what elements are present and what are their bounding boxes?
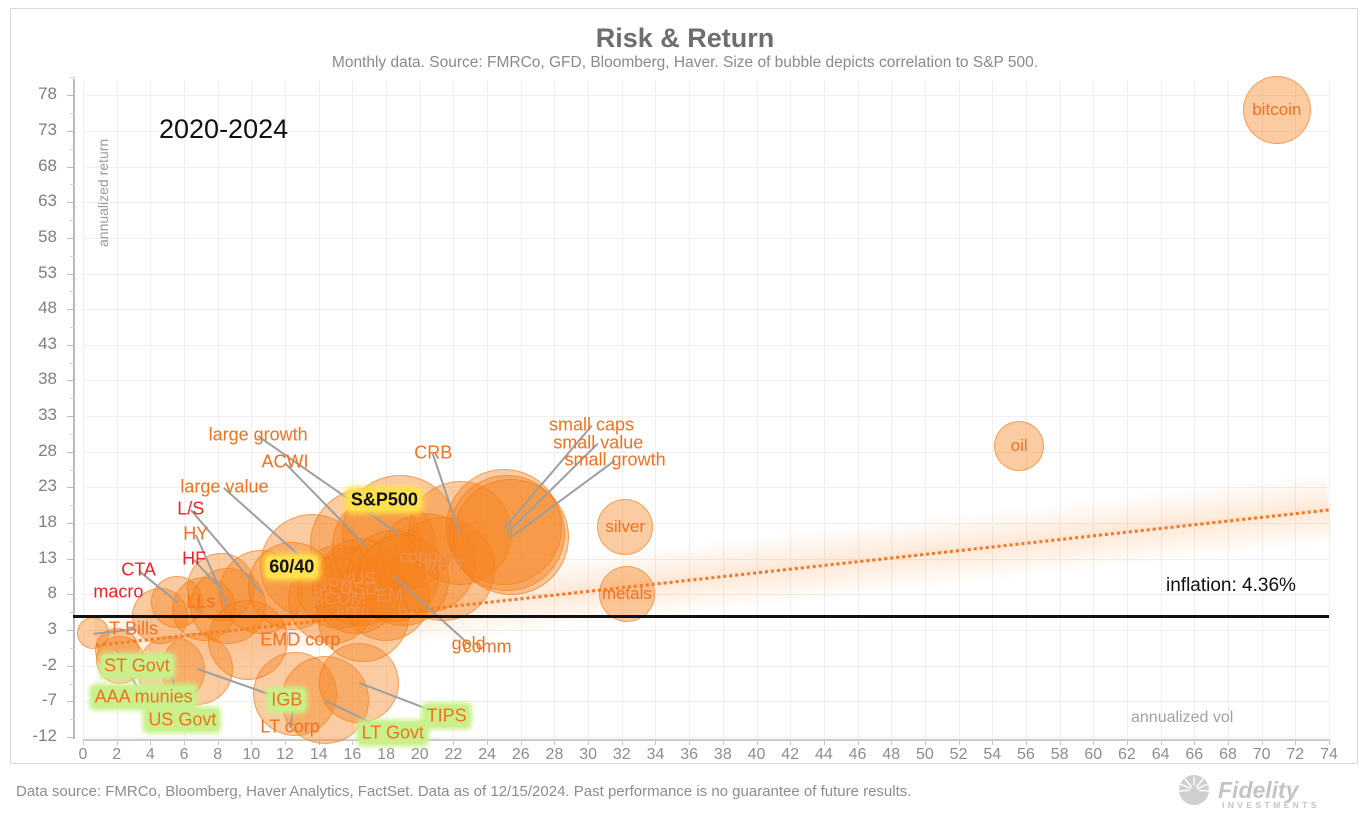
y-tick-label: 53 bbox=[11, 263, 57, 283]
chart-page: Risk & Return Monthly data. Source: FMRC… bbox=[0, 0, 1372, 817]
y-tick bbox=[67, 202, 75, 203]
y-tick-label: 3 bbox=[11, 619, 57, 639]
point-label-oil: oil bbox=[1011, 436, 1028, 456]
x-tick bbox=[117, 739, 118, 745]
point-label-st-govt: ST Govt bbox=[102, 655, 172, 676]
grid-line-horizontal bbox=[83, 238, 1329, 239]
grid-line-vertical bbox=[992, 81, 993, 737]
y-tick-label: 68 bbox=[11, 156, 57, 176]
y-tick-label: 48 bbox=[11, 298, 57, 318]
grid-line-horizontal bbox=[83, 309, 1329, 310]
x-tick bbox=[992, 739, 993, 745]
y-tick-label: 33 bbox=[11, 405, 57, 425]
point-label-reit: REIT bbox=[424, 557, 465, 578]
y-tick-minor bbox=[70, 149, 75, 150]
x-tick bbox=[891, 739, 892, 745]
y-tick-label: -12 bbox=[11, 726, 57, 746]
y-tick bbox=[67, 380, 75, 381]
grid-line-vertical bbox=[1060, 81, 1061, 737]
grid-line-vertical bbox=[1228, 81, 1229, 737]
point-label-large-value: large value bbox=[180, 477, 268, 498]
grid-line-vertical bbox=[1093, 81, 1094, 737]
grid-line-horizontal bbox=[83, 380, 1329, 381]
point-label-igb: IGB bbox=[269, 689, 304, 710]
x-tick bbox=[1093, 739, 1094, 745]
x-tick bbox=[824, 739, 825, 745]
y-tick-minor bbox=[70, 434, 75, 435]
point-label-tips: TIPS bbox=[425, 706, 469, 727]
x-tick bbox=[1026, 739, 1027, 745]
point-label-small-growth: small growth bbox=[565, 450, 666, 471]
x-tick bbox=[285, 739, 286, 745]
grid-line-horizontal bbox=[83, 167, 1329, 168]
y-tick-minor bbox=[70, 220, 75, 221]
x-tick bbox=[487, 739, 488, 745]
grid-line-horizontal bbox=[83, 487, 1329, 488]
grid-line-vertical bbox=[655, 81, 656, 737]
x-axis-label: annualized vol bbox=[1131, 709, 1233, 727]
x-tick bbox=[790, 739, 791, 745]
y-tick-minor bbox=[70, 184, 75, 185]
y-tick-label: 58 bbox=[11, 227, 57, 247]
x-tick bbox=[1329, 739, 1330, 745]
y-tick bbox=[67, 95, 75, 96]
inflation-line bbox=[73, 615, 1329, 618]
grid-line-vertical bbox=[824, 81, 825, 737]
point-label-lls: LLs bbox=[186, 591, 215, 612]
grid-line-vertical bbox=[521, 81, 522, 737]
y-tick bbox=[67, 238, 75, 239]
footer-disclaimer: Data source: FMRCo, Bloomberg, Haver Ana… bbox=[16, 783, 911, 800]
y-tick-minor bbox=[70, 648, 75, 649]
point-label-lt-corp: LT corp bbox=[260, 717, 319, 738]
fidelity-logo-mark: Fidelity INVESTMENTS bbox=[1172, 775, 1358, 811]
point-label-hy: HY bbox=[183, 524, 208, 545]
chart-title: Risk & Return bbox=[11, 23, 1359, 54]
point-label-aaa-munies: AAA munies bbox=[93, 687, 195, 708]
y-tick bbox=[67, 594, 75, 595]
x-tick bbox=[689, 739, 690, 745]
x-tick bbox=[925, 739, 926, 745]
point-label-l-s: L/S bbox=[177, 498, 204, 519]
point-label-t-bills: T-Bills bbox=[109, 618, 158, 639]
x-tick bbox=[1262, 739, 1263, 745]
y-tick bbox=[67, 523, 75, 524]
y-tick-minor bbox=[70, 113, 75, 114]
y-tick-label: 23 bbox=[11, 476, 57, 496]
grid-line-vertical bbox=[1295, 81, 1296, 737]
y-axis-line bbox=[73, 79, 75, 739]
y-tick bbox=[67, 345, 75, 346]
grid-line-horizontal bbox=[83, 274, 1329, 275]
y-tick bbox=[67, 666, 75, 667]
x-tick bbox=[453, 739, 454, 745]
point-label-em: EM bbox=[376, 585, 403, 606]
point-label-cta: CTA bbox=[121, 560, 156, 581]
chart-subtitle: Monthly data. Source: FMRCo, GFD, Bloomb… bbox=[11, 54, 1359, 72]
y-tick-minor bbox=[70, 256, 75, 257]
x-tick bbox=[1295, 739, 1296, 745]
x-tick bbox=[858, 739, 859, 745]
grid-line-horizontal bbox=[83, 523, 1329, 524]
x-tick bbox=[723, 739, 724, 745]
point-label-crb: CRB bbox=[414, 443, 452, 464]
y-tick bbox=[67, 452, 75, 453]
grid-line-vertical bbox=[622, 81, 623, 737]
grid-line-vertical bbox=[858, 81, 859, 737]
period-annotation: 2020-2024 bbox=[159, 114, 288, 145]
y-tick bbox=[67, 701, 75, 702]
x-tick bbox=[251, 739, 252, 745]
y-tick-label: 78 bbox=[11, 84, 57, 104]
grid-line-vertical bbox=[588, 81, 589, 737]
grid-line-vertical bbox=[891, 81, 892, 737]
y-tick-minor bbox=[70, 541, 75, 542]
grid-line-vertical bbox=[1026, 81, 1027, 737]
y-tick-minor bbox=[70, 363, 75, 364]
y-tick-label: 73 bbox=[11, 120, 57, 140]
y-axis-label: annualized return bbox=[95, 139, 111, 247]
grid-line-vertical bbox=[1161, 81, 1162, 737]
grid-line-vertical bbox=[757, 81, 758, 737]
point-label-comm: comm bbox=[463, 637, 512, 658]
y-tick bbox=[67, 559, 75, 560]
grid-line-horizontal bbox=[83, 416, 1329, 417]
y-tick-minor bbox=[70, 505, 75, 506]
grid-line-vertical bbox=[689, 81, 690, 737]
x-tick bbox=[1127, 739, 1128, 745]
y-tick-label: 43 bbox=[11, 334, 57, 354]
y-tick bbox=[67, 416, 75, 417]
fidelity-logo: Fidelity INVESTMENTS bbox=[1172, 775, 1358, 811]
grid-line-vertical bbox=[1329, 81, 1330, 737]
y-tick bbox=[67, 487, 75, 488]
x-tick bbox=[554, 739, 555, 745]
point-label-metals: metals bbox=[602, 584, 652, 604]
y-tick bbox=[67, 309, 75, 310]
grid-line-vertical bbox=[554, 81, 555, 737]
point-label-s-p500: S&P500 bbox=[348, 490, 421, 511]
x-axis-line bbox=[83, 739, 1329, 741]
point-label-silver: silver bbox=[605, 517, 645, 537]
x-tick bbox=[588, 739, 589, 745]
x-tick bbox=[150, 739, 151, 745]
y-tick-label: 13 bbox=[11, 548, 57, 568]
point-label-macro: macro bbox=[93, 581, 143, 602]
inflation-label: inflation: 4.36% bbox=[1166, 575, 1296, 597]
point-label-large-growth: large growth bbox=[209, 424, 308, 445]
y-tick-label: 8 bbox=[11, 583, 57, 603]
x-tick bbox=[521, 739, 522, 745]
y-tick-minor bbox=[70, 612, 75, 613]
x-tick bbox=[622, 739, 623, 745]
grid-line-vertical bbox=[1262, 81, 1263, 737]
x-tick bbox=[1161, 739, 1162, 745]
y-tick bbox=[67, 131, 75, 132]
point-label-hf: HF bbox=[182, 548, 206, 569]
y-tick bbox=[67, 630, 75, 631]
x-tick bbox=[757, 739, 758, 745]
grid-line-horizontal bbox=[83, 95, 1329, 96]
y-tick-minor bbox=[70, 77, 75, 78]
y-tick bbox=[67, 167, 75, 168]
point-label-acwi: ACWI bbox=[262, 451, 309, 472]
x-tick bbox=[1228, 739, 1229, 745]
grid-line-vertical bbox=[420, 81, 421, 737]
y-tick-minor bbox=[70, 398, 75, 399]
grid-line-vertical bbox=[723, 81, 724, 737]
point-label-bitcoin: bitcoin bbox=[1252, 100, 1301, 120]
y-tick-minor bbox=[70, 577, 75, 578]
svg-text:INVESTMENTS: INVESTMENTS bbox=[1222, 800, 1320, 810]
point-label-60-40: 60/40 bbox=[266, 557, 317, 578]
y-tick-minor bbox=[70, 719, 75, 720]
y-tick-label: 18 bbox=[11, 512, 57, 532]
y-tick-label: -2 bbox=[11, 655, 57, 675]
grid-line-vertical bbox=[925, 81, 926, 737]
point-label-emd-corp: EMD corp bbox=[260, 630, 340, 651]
x-tick-label: 74 bbox=[1309, 746, 1349, 764]
y-tick-minor bbox=[70, 291, 75, 292]
x-tick bbox=[184, 739, 185, 745]
grid-line-vertical bbox=[959, 81, 960, 737]
x-tick bbox=[218, 739, 219, 745]
grid-line-horizontal bbox=[83, 345, 1329, 346]
x-tick bbox=[1194, 739, 1195, 745]
y-tick-minor bbox=[70, 470, 75, 471]
grid-line-vertical bbox=[1127, 81, 1128, 737]
grid-line-horizontal bbox=[83, 202, 1329, 203]
chart-frame: Risk & Return Monthly data. Source: FMRC… bbox=[10, 8, 1358, 764]
y-tick-label: 63 bbox=[11, 191, 57, 211]
grid-line-vertical bbox=[1194, 81, 1195, 737]
y-tick bbox=[67, 274, 75, 275]
y-tick bbox=[67, 737, 75, 738]
y-tick-label: 38 bbox=[11, 369, 57, 389]
point-label-usd: USD bbox=[340, 578, 378, 599]
x-tick bbox=[1060, 739, 1061, 745]
y-tick-minor bbox=[70, 327, 75, 328]
x-tick bbox=[959, 739, 960, 745]
point-label-us-govt: US Govt bbox=[146, 709, 218, 730]
x-tick bbox=[655, 739, 656, 745]
y-tick-minor bbox=[70, 684, 75, 685]
x-tick bbox=[352, 739, 353, 745]
grid-line-vertical bbox=[790, 81, 791, 737]
y-tick-label: -7 bbox=[11, 690, 57, 710]
x-tick bbox=[83, 739, 84, 745]
y-tick-label: 28 bbox=[11, 441, 57, 461]
point-label-lt-govt: LT Govt bbox=[360, 722, 426, 743]
